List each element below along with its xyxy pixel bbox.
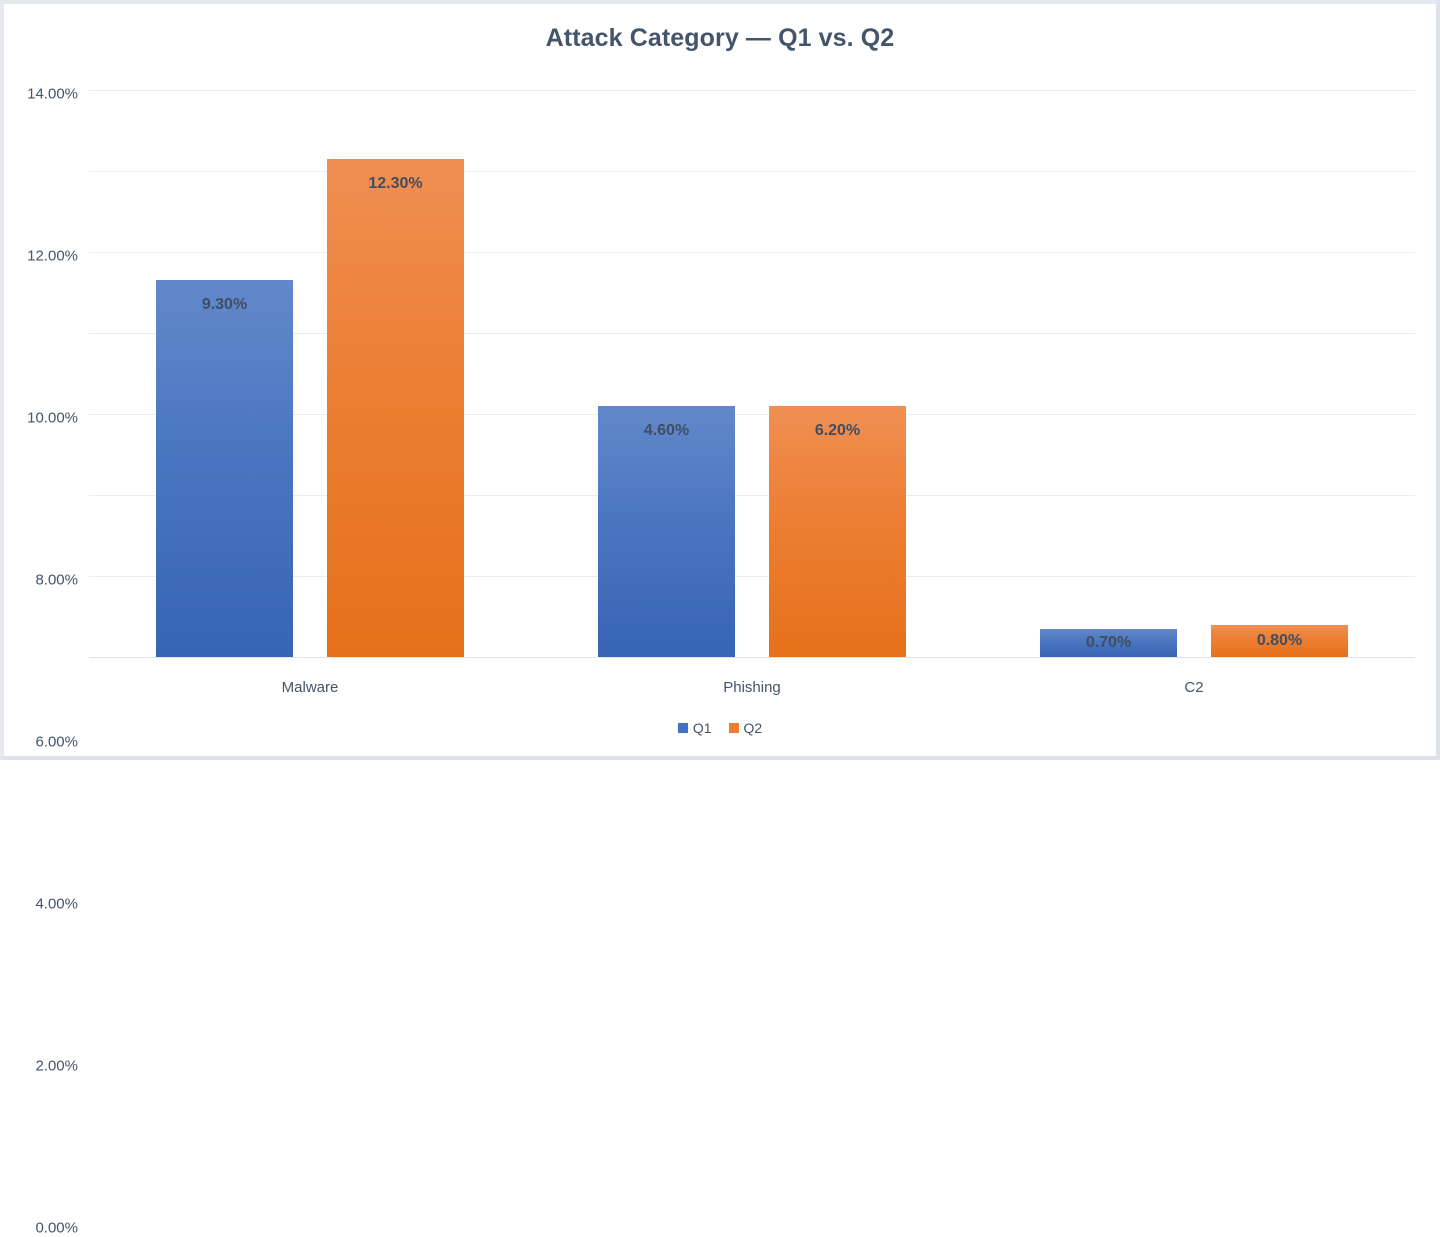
- bar-q2-c2[interactable]: 0.80%: [1211, 625, 1348, 657]
- legend-swatch-icon: [729, 723, 739, 733]
- bar-group: 9.30%12.30%: [89, 86, 531, 661]
- bar-q1-phishing[interactable]: 4.60%: [598, 406, 735, 657]
- y-axis-tick-label: 4.00%: [35, 896, 78, 913]
- bar-q1-malware[interactable]: 9.30%: [156, 280, 293, 657]
- x-axis-label-malware: Malware: [282, 679, 339, 696]
- legend-item-q1[interactable]: Q1: [678, 720, 712, 736]
- bar-group: 4.60%6.20%: [531, 86, 973, 661]
- y-axis-tick-label: 14.00%: [27, 86, 78, 103]
- plot-area: 0.00%2.00%4.00%6.00%8.00%10.00%12.00%14.…: [89, 86, 1415, 661]
- y-axis-tick-label: 12.00%: [27, 248, 78, 265]
- bar-q2-phishing[interactable]: 6.20%: [769, 406, 906, 657]
- bar-groups: 9.30%12.30%4.60%6.20%0.70%0.80%: [89, 86, 1415, 661]
- bar-value-label: 4.60%: [644, 422, 689, 440]
- bar-value-label: 0.80%: [1257, 632, 1302, 650]
- y-axis-tick-label: 2.00%: [35, 1058, 78, 1075]
- bar-q2-malware[interactable]: 12.30%: [327, 159, 464, 657]
- legend-swatch-icon: [678, 723, 688, 733]
- bar-q1-c2[interactable]: 0.70%: [1040, 629, 1177, 657]
- legend-item-q2[interactable]: Q2: [729, 720, 763, 736]
- bar-value-label: 12.30%: [368, 175, 422, 193]
- bar-group: 0.70%0.80%: [973, 86, 1415, 661]
- chart-legend: Q1Q2: [4, 720, 1436, 736]
- bar-value-label: 9.30%: [202, 296, 247, 314]
- legend-label: Q2: [744, 720, 763, 736]
- y-axis-tick-label: 0.00%: [35, 1220, 78, 1237]
- x-axis-label-c2: C2: [1184, 679, 1203, 696]
- x-axis-label-phishing: Phishing: [723, 679, 781, 696]
- chart-title: Attack Category — Q1 vs. Q2: [4, 24, 1436, 53]
- chart-container: Attack Category — Q1 vs. Q2 0.00%2.00%4.…: [0, 0, 1440, 760]
- bar-value-label: 0.70%: [1086, 634, 1131, 652]
- y-axis-tick-label: 6.00%: [35, 734, 78, 751]
- bar-value-label: 6.20%: [815, 422, 860, 440]
- y-axis-tick-label: 10.00%: [27, 410, 78, 427]
- y-axis-tick-label: 8.00%: [35, 572, 78, 589]
- legend-label: Q1: [693, 720, 712, 736]
